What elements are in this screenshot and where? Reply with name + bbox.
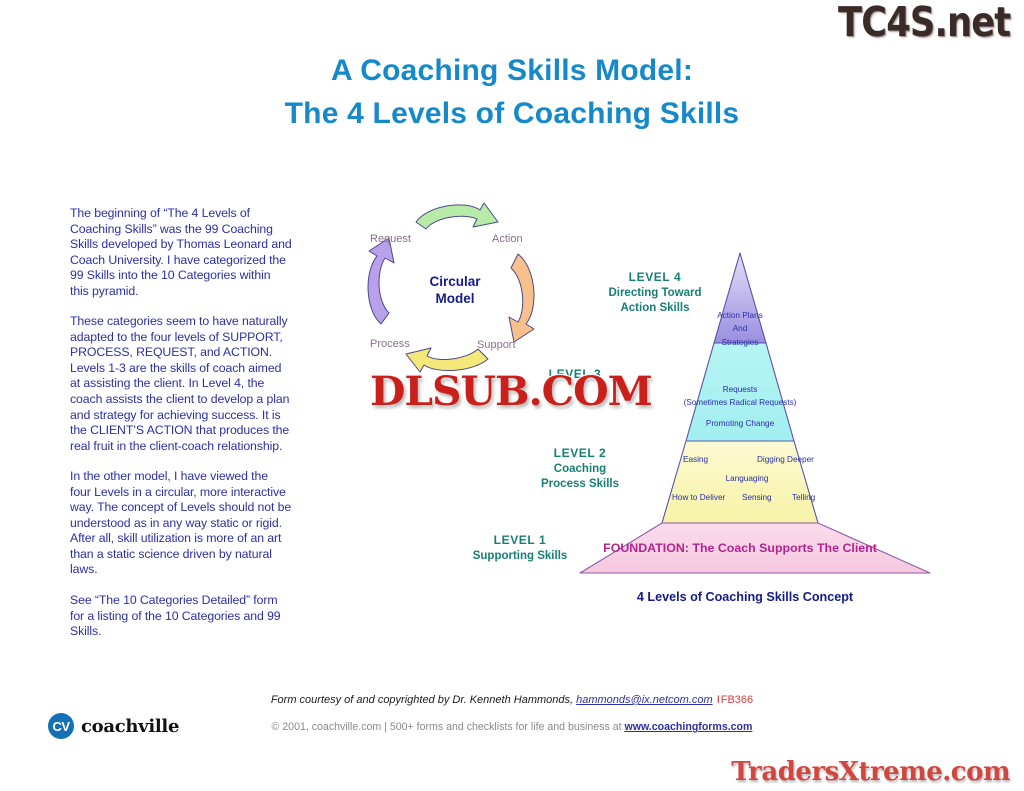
level-3-item-2: (Sometimes Radical Requests) bbox=[655, 396, 825, 409]
footer-credit-prefix: Form courtesy of and copyrighted by Dr. … bbox=[271, 694, 573, 706]
pyramid-level-2-label: LEVEL 2 Coaching Process Skills bbox=[525, 446, 635, 492]
level-3-band-content: Requests (Sometimes Radical Requests) Pr… bbox=[655, 383, 825, 430]
body-paragraph-2: These categories seem to have naturally … bbox=[70, 314, 292, 454]
level-2-tag-line-1: LEVEL 2 bbox=[525, 446, 635, 462]
tc4s-watermark: TC4S.net bbox=[838, 0, 1010, 46]
level-2-item-sensing: Sensing bbox=[742, 493, 772, 502]
footer-credit-line: Form courtesy of and copyrighted by Dr. … bbox=[0, 694, 1024, 706]
footer-coachingforms-link[interactable]: www.coachingforms.com bbox=[625, 721, 753, 733]
level-4-tag-line-2: Directing Toward bbox=[600, 286, 710, 301]
level-3-item-3: Promoting Change bbox=[655, 417, 825, 430]
pyramid-caption: 4 Levels of Coaching Skills Concept bbox=[585, 590, 905, 604]
level-4-item-2: And bbox=[678, 322, 802, 335]
level-4-item-1: Action Plans bbox=[678, 309, 802, 322]
level-1-tag-line-1: LEVEL 1 bbox=[455, 533, 585, 549]
poster-page: TC4S.net A Coaching Skills Model: The 4 … bbox=[0, 0, 1024, 791]
coachville-logo[interactable]: CV coachville bbox=[48, 713, 179, 739]
footer-copyright-prefix: © 2001, coachville.com | 500+ forms and … bbox=[272, 721, 622, 733]
level-4-item-3: Strategies bbox=[678, 336, 802, 349]
level-3-item-1: Requests bbox=[655, 383, 825, 396]
level-2-item-easing: Easing bbox=[683, 455, 708, 464]
level-2-tag-line-3: Process Skills bbox=[525, 477, 635, 492]
explanatory-text: The beginning of “The 4 Levels of Coachi… bbox=[70, 206, 292, 640]
pyramid-level-1-label: LEVEL 1 Supporting Skills bbox=[455, 533, 585, 564]
pyramid-diagram: LEVEL 4 Directing Toward Action Skills L… bbox=[440, 243, 960, 618]
body-paragraph-4: See “The 10 Categories Detailed” form fo… bbox=[70, 593, 292, 640]
page-title: A Coaching Skills Model: The 4 Levels of… bbox=[0, 50, 1024, 135]
footer-email-link[interactable]: hammonds@ix.netcom.com bbox=[576, 694, 713, 706]
title-line-2: The 4 Levels of Coaching Skills bbox=[0, 93, 1024, 136]
level-2-item-telling: Telling bbox=[792, 493, 815, 502]
level-3-spacer bbox=[655, 410, 825, 417]
level-2-tag-line-2: Coaching bbox=[525, 462, 635, 477]
title-line-1: A Coaching Skills Model: bbox=[0, 50, 1024, 93]
coachville-wordmark: coachville bbox=[81, 716, 179, 737]
level-2-item-digging-deeper: Digging Deeper bbox=[757, 455, 814, 464]
dlsub-watermark: DLSUB.COM bbox=[370, 368, 652, 415]
coachville-badge-icon: CV bbox=[48, 713, 74, 739]
body-paragraph-1: The beginning of “The 4 Levels of Coachi… bbox=[70, 206, 292, 299]
body-paragraph-3: In the other model, I have viewed the fo… bbox=[70, 469, 292, 578]
level-2-item-how-to-deliver: How to Deliver bbox=[672, 493, 725, 502]
foundation-band-text: FOUNDATION: The Coach Supports The Clien… bbox=[600, 541, 880, 555]
tradersxtreme-watermark: TradersXtreme.com bbox=[731, 757, 1010, 787]
circular-label-process: Process bbox=[370, 338, 410, 350]
footer-form-code: FB366 bbox=[721, 694, 753, 706]
level-1-tag-line-2: Supporting Skills bbox=[455, 549, 585, 564]
level-4-band-content: Action Plans And Strategies bbox=[678, 309, 802, 349]
arrow-top-green bbox=[416, 203, 498, 229]
circular-label-request: Request bbox=[370, 233, 411, 245]
level-4-tag-line-1: LEVEL 4 bbox=[600, 270, 710, 286]
level-2-item-languaging: Languaging bbox=[712, 474, 782, 483]
